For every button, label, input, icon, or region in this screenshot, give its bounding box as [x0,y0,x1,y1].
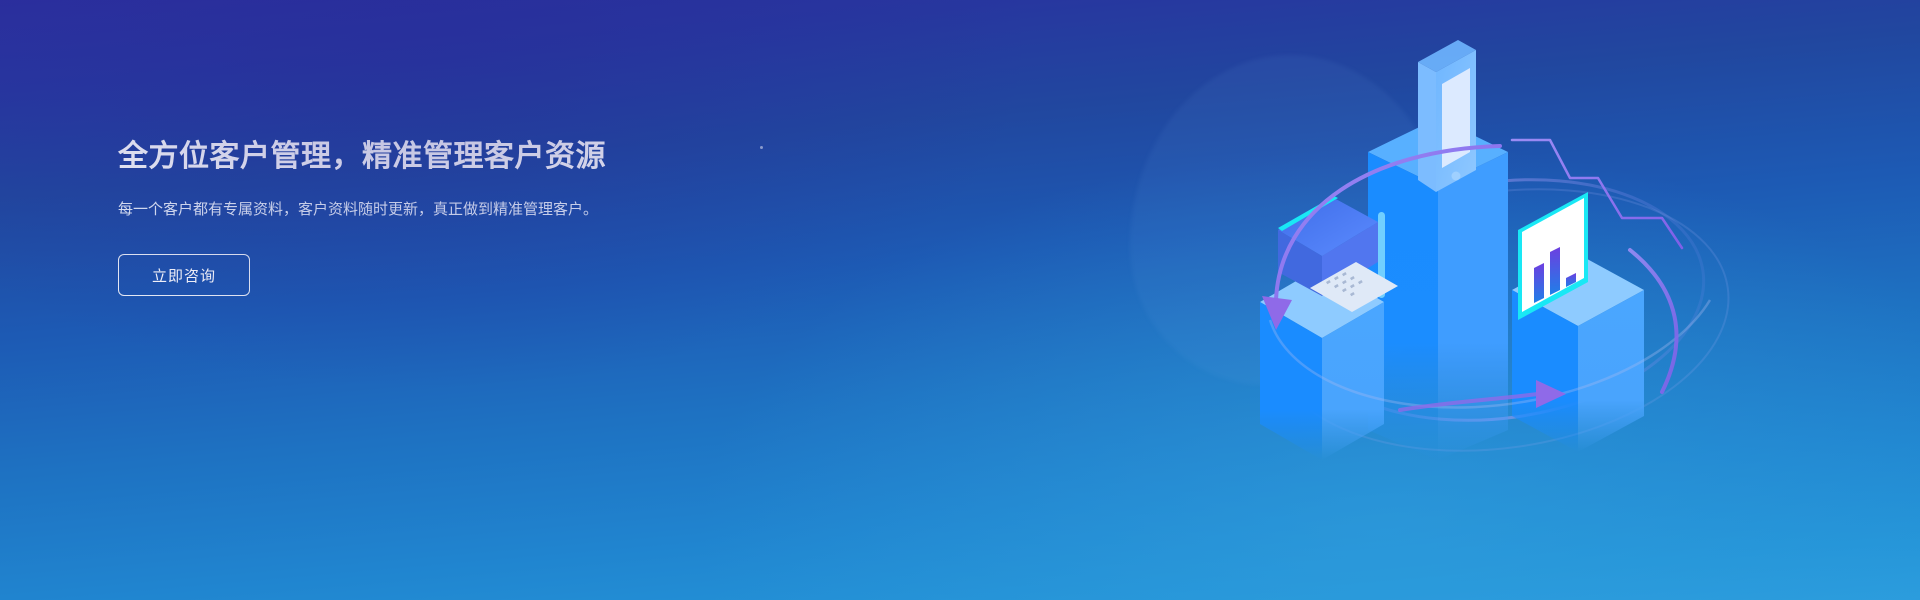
isometric-illustration-svg [1250,0,1770,600]
hero-copy: 全方位客户管理，精准管理客户资源 每一个客户都有专属资料，客户资料随时更新，真正… [118,138,758,296]
consult-now-button[interactable]: 立即咨询 [118,254,250,296]
hero-subtitle: 每一个客户都有专属资料，客户资料随时更新，真正做到精准管理客户。 [118,198,610,223]
sparkle-dot [760,146,763,149]
hero-banner: 全方位客户管理，精准管理客户资源 每一个客户都有专属资料，客户资料随时更新，真正… [0,0,1920,600]
hero-illustration [1250,0,1770,600]
page-title: 全方位客户管理，精准管理客户资源 [118,138,758,176]
tablet-device [1418,40,1476,192]
